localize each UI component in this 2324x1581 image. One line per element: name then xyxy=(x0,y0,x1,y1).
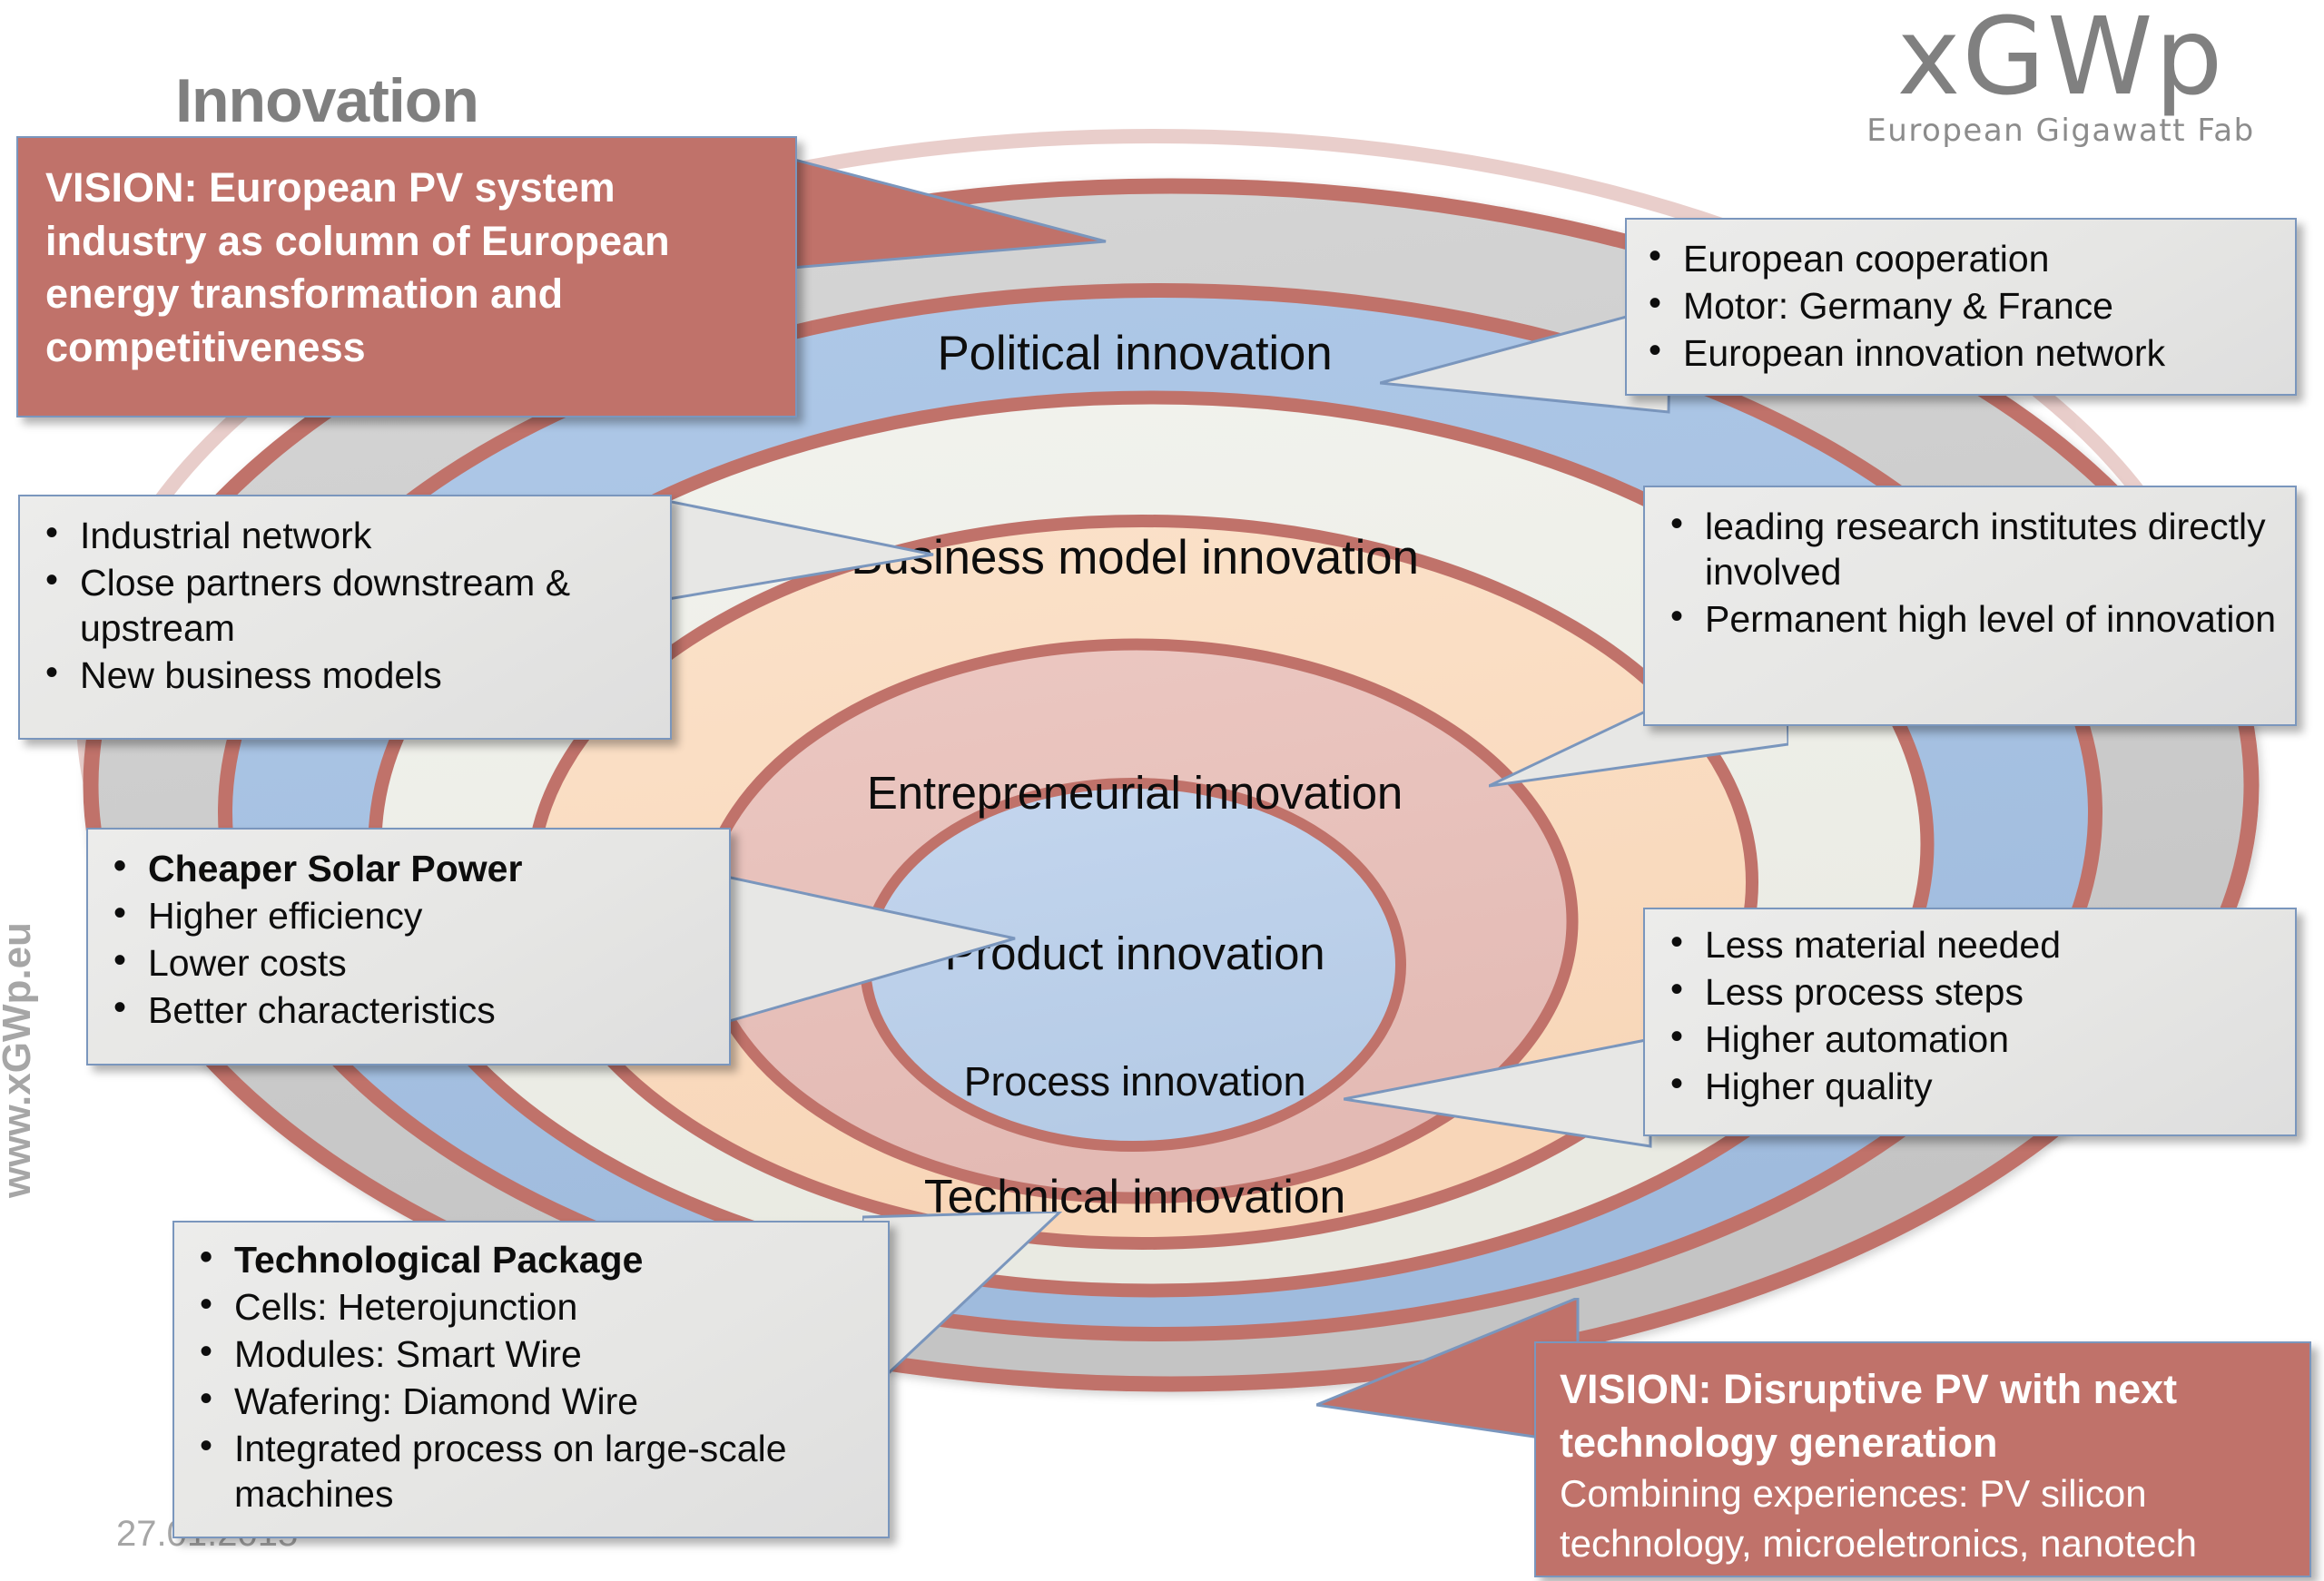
list-item: Close partners downstream & upstream xyxy=(33,560,655,651)
vision-bottom-right[interactable]: VISION: Disruptive PV with next technolo… xyxy=(1534,1341,2311,1577)
vision-body: Combining experiences: PV silicon techno… xyxy=(1560,1469,2290,1568)
logo-wordmark: xGWp xyxy=(1825,5,2297,107)
vision-heading: VISION: European PV system industry as c… xyxy=(45,162,772,374)
list-item: New business models xyxy=(33,653,655,698)
list-item: leading research institutes directly inv… xyxy=(1658,504,2280,594)
ring-label-process: Process innovation xyxy=(635,1059,1634,1105)
ring-label-technical: Technical innovation xyxy=(899,1171,1371,1223)
logo: xGWp European Gigawatt Fab xyxy=(1825,5,2297,149)
list-item: Higher efficiency xyxy=(101,893,714,938)
list-item: Cheaper Solar Power xyxy=(101,846,714,891)
technical-innovation-callout[interactable]: Technological Package Cells: Heterojunct… xyxy=(172,1221,890,1538)
list-item: Technological Package xyxy=(187,1237,873,1282)
list-item: European innovation network xyxy=(1636,330,2277,376)
list-item: Lower costs xyxy=(101,940,714,986)
ring-label-business-model: Business model innovation xyxy=(635,531,1634,584)
vision-heading: VISION: Disruptive PV with next technolo… xyxy=(1560,1363,2290,1469)
list-item: Higher automation xyxy=(1658,1016,2280,1062)
ring-label-product: Product innovation xyxy=(635,928,1634,979)
list-item: Motor: Germany & France xyxy=(1636,283,2277,329)
logo-tagline: European Gigawatt Fab xyxy=(1825,113,2297,149)
political-innovation-callout[interactable]: European cooperation Motor: Germany & Fr… xyxy=(1625,218,2297,396)
list-item: Modules: Smart Wire xyxy=(187,1331,873,1377)
list-item: Cells: Heterojunction xyxy=(187,1284,873,1330)
list-item: Integrated process on large-scale machin… xyxy=(187,1426,873,1517)
ring-label-entrepreneurial: Entrepreneurial innovation xyxy=(635,767,1634,819)
page-title: Innovation xyxy=(0,65,654,136)
list-item: Better characteristics xyxy=(101,987,714,1033)
list-item: Wafering: Diamond Wire xyxy=(187,1379,873,1424)
website-url[interactable]: www.xGWp.eu xyxy=(0,922,40,1198)
list-item: European cooperation xyxy=(1636,236,2277,281)
list-item: Industrial network xyxy=(33,513,655,558)
list-item: Less process steps xyxy=(1658,969,2280,1015)
vision-top-left[interactable]: VISION: European PV system industry as c… xyxy=(16,136,797,417)
list-item: Higher quality xyxy=(1658,1064,2280,1109)
entrepreneurial-innovation-callout[interactable]: leading research institutes directly inv… xyxy=(1643,486,2297,726)
list-item: Permanent high level of innovation xyxy=(1658,596,2280,642)
list-item: Less material needed xyxy=(1658,922,2280,967)
slide-canvas: Political innovation Business model inno… xyxy=(0,0,2324,1581)
process-innovation-callout[interactable]: Less material needed Less process steps … xyxy=(1643,908,2297,1136)
product-innovation-callout[interactable]: Cheaper Solar Power Higher efficiency Lo… xyxy=(86,828,731,1065)
business-model-left-callout[interactable]: Industrial network Close partners downst… xyxy=(18,495,672,740)
